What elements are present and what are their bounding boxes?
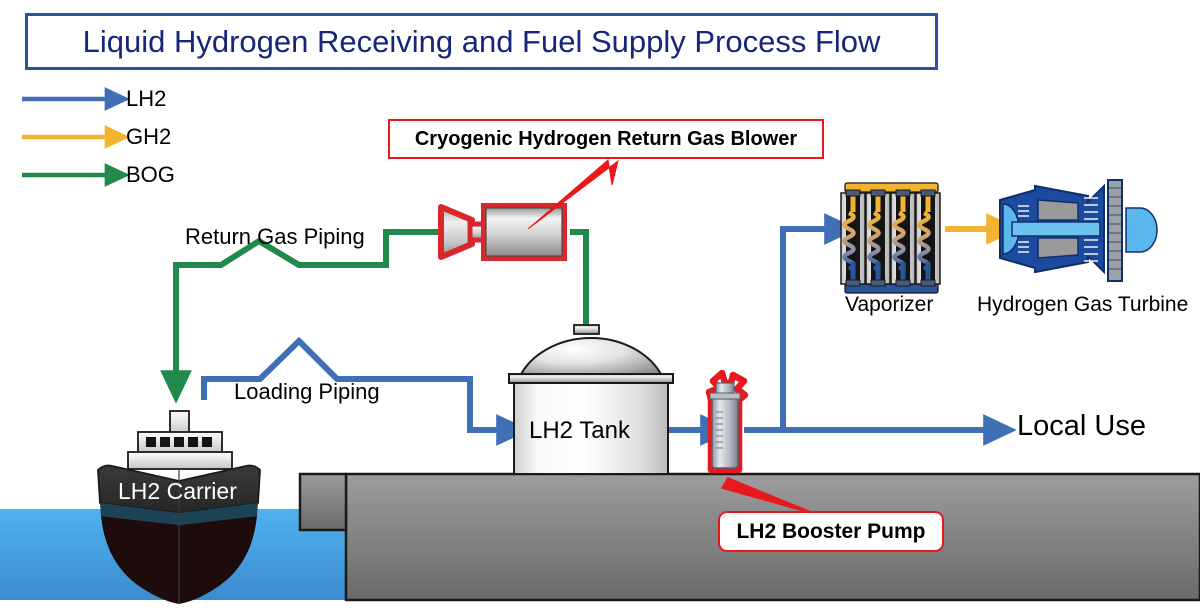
ship-deckhouse — [128, 452, 232, 469]
label-loading-piping: Loading Piping — [234, 379, 380, 405]
blower-callout-leader — [528, 160, 618, 229]
callout-lh2-booster-pump[interactable]: LH2 Booster Pump — [718, 511, 944, 552]
legend-label-bog: BOG — [126, 162, 175, 188]
vaporizer[interactable] — [841, 183, 940, 293]
lh2-tank[interactable] — [509, 325, 673, 474]
pipe-lh2-to-vaporizer — [783, 229, 826, 430]
turbine-stator-disc — [1108, 180, 1122, 281]
process-flow-diagram: Liquid Hydrogen Receiving and Fuel Suppl… — [0, 0, 1200, 612]
vaporizer-panel — [841, 190, 865, 286]
pipe-bog-tank-to-blower — [570, 232, 586, 330]
vaporizer-panel — [916, 190, 940, 286]
turbine-compressor-upper — [1038, 200, 1078, 220]
tank-nozzle — [574, 325, 599, 334]
label-return-gas-piping: Return Gas Piping — [185, 224, 365, 250]
quay-step — [300, 474, 346, 530]
label-vaporizer: Vaporizer — [845, 293, 933, 317]
label-local-use: Local Use — [1017, 410, 1146, 443]
legend-label-gh2: GH2 — [126, 124, 171, 150]
vaporizer-panel — [866, 190, 890, 286]
turbine-shaft — [1012, 222, 1100, 236]
return-gas-blower[interactable] — [441, 160, 618, 258]
ship-windows — [146, 437, 212, 447]
turbine-compressor-lower — [1038, 238, 1078, 258]
label-lh2-tank: LH2 Tank — [529, 417, 630, 445]
pump-flange — [710, 393, 740, 399]
blower-inlet-cone — [441, 207, 472, 257]
legend-label-lh2: LH2 — [126, 86, 166, 112]
vaporizer-panel — [891, 190, 915, 286]
label-hydrogen-gas-turbine: Hydrogen Gas Turbine — [977, 293, 1188, 317]
title-box: Liquid Hydrogen Receiving and Fuel Suppl… — [25, 13, 938, 70]
label-lh2-carrier: LH2 Carrier — [118, 478, 237, 505]
callout-return-gas-blower[interactable]: Cryogenic Hydrogen Return Gas Blower — [388, 119, 824, 159]
turbine-exhaust-cone — [1126, 208, 1157, 252]
page-title: Liquid Hydrogen Receiving and Fuel Suppl… — [28, 16, 935, 67]
hydrogen-gas-turbine[interactable] — [1000, 180, 1157, 281]
pump-body — [712, 395, 738, 468]
tank-dome — [519, 338, 663, 378]
blower-casing-inner — [486, 208, 562, 256]
legend — [22, 99, 106, 175]
tank-rim — [509, 374, 673, 383]
